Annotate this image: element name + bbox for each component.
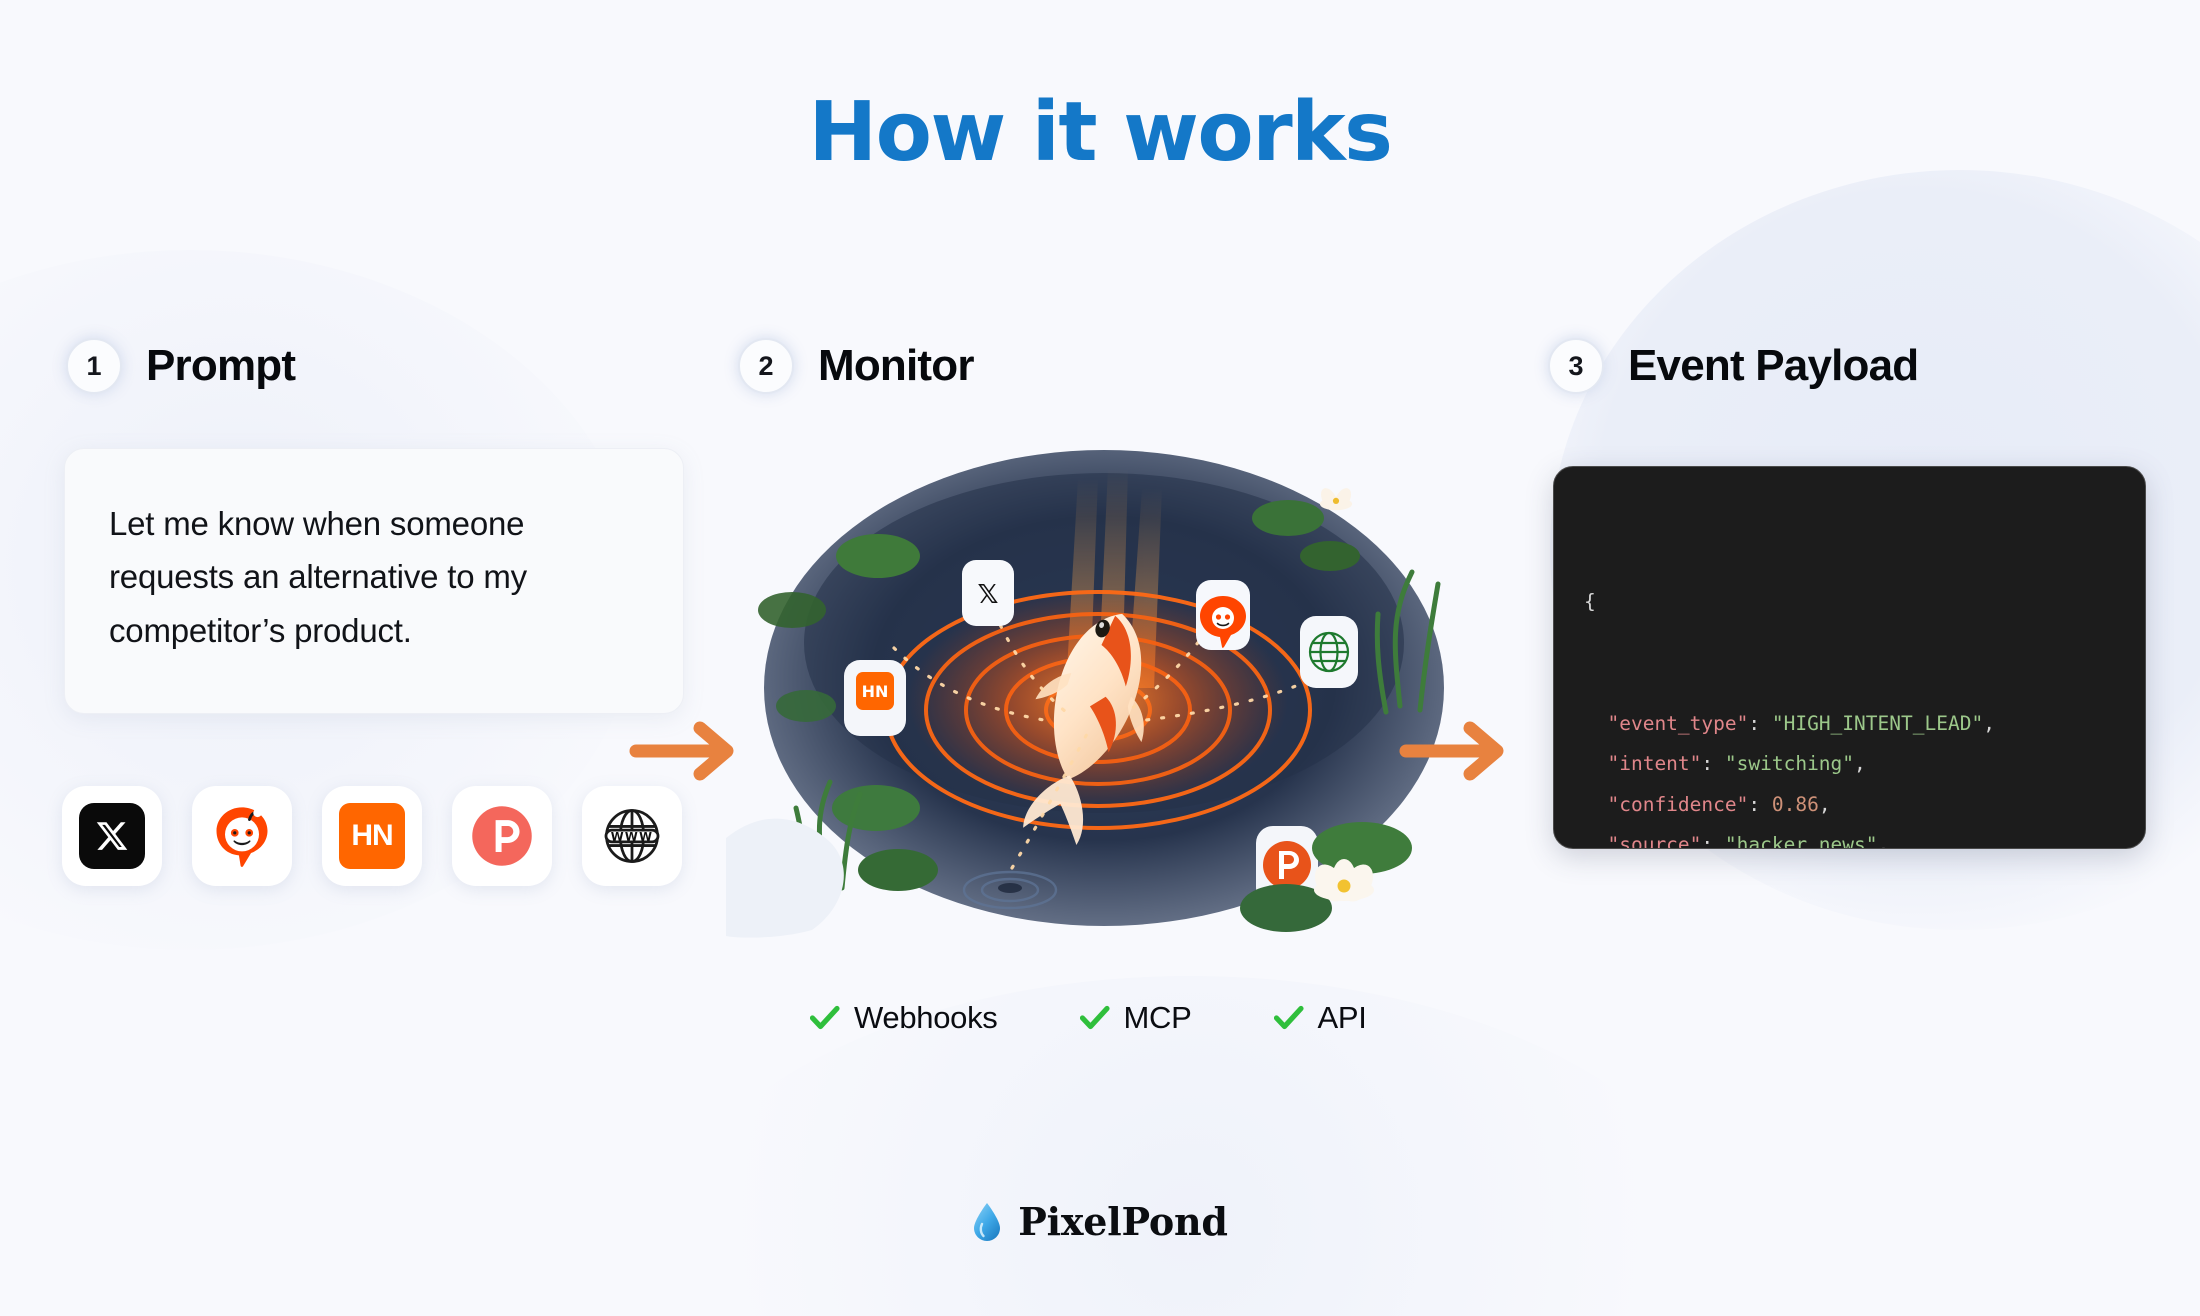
step-number-badge: 1 (66, 338, 122, 394)
payload-value: 0.86 (1772, 793, 1819, 816)
pond-badge-globe (1300, 616, 1358, 688)
pond-badge-hacker-news: HN (844, 660, 906, 736)
step-header-prompt: 1 Prompt (66, 338, 295, 394)
channel-label: API (1318, 1000, 1367, 1036)
check-icon (1274, 1005, 1304, 1031)
payload-key: "intent" (1607, 752, 1701, 775)
arrow-monitor-to-payload (1398, 718, 1510, 784)
hacker-news-icon: HN (339, 803, 405, 869)
brand-footer: PixelPond (0, 1199, 2200, 1244)
x-icon (79, 803, 145, 869)
source-tile-reddit[interactable] (192, 786, 292, 886)
source-tile-x[interactable] (62, 786, 162, 886)
reddit-icon (208, 802, 276, 870)
check-icon (1080, 1005, 1110, 1031)
globe-www-icon: WWW (598, 802, 666, 870)
channel-api: API (1274, 1000, 1367, 1036)
svg-text:WWW: WWW (611, 829, 653, 843)
page-root: How it works 1 Prompt 2 Monitor 3 Event … (0, 0, 2200, 1316)
channel-label: Webhooks (854, 1000, 998, 1036)
source-tile-web[interactable]: WWW (582, 786, 682, 886)
payload-line: "event_type": "HIGH_INTENT_LEAD", (1584, 704, 2115, 745)
step-number-badge: 2 (738, 338, 794, 394)
svg-text:HN: HN (862, 682, 889, 701)
water-drop-icon (972, 1202, 1002, 1242)
pond-illustration: HN 𝕏 (726, 438, 1474, 940)
step-header-monitor: 2 Monitor (738, 338, 974, 394)
prompt-text: Let me know when someone requests an alt… (109, 497, 639, 657)
page-title: How it works (0, 92, 2200, 174)
channel-badge-row: Webhooks MCP API (810, 1000, 1367, 1036)
channel-label: MCP (1124, 1000, 1192, 1036)
prompt-card[interactable]: Let me know when someone requests an alt… (64, 448, 684, 714)
source-tile-product-hunt[interactable] (452, 786, 552, 886)
brand-name: PixelPond (1018, 1199, 1228, 1244)
arrow-right-icon (1398, 718, 1510, 784)
pond-badge-x: 𝕏 (962, 560, 1014, 626)
channel-mcp: MCP (1080, 1000, 1192, 1036)
product-hunt-icon (468, 802, 536, 870)
check-icon (810, 1005, 840, 1031)
payload-key: "event_type" (1607, 712, 1748, 735)
svg-text:𝕏: 𝕏 (978, 580, 999, 610)
payload-key: "source" (1607, 833, 1701, 849)
source-tile-hacker-news[interactable]: HN (322, 786, 422, 886)
step-title: Event Payload (1628, 341, 1918, 391)
source-icon-row: HN WWW (62, 786, 682, 886)
payload-line: "source": "hacker_news", (1584, 825, 2115, 849)
pond-badge-reddit (1196, 580, 1250, 650)
payload-line: "confidence": 0.86, (1584, 785, 2115, 826)
step-title: Monitor (818, 341, 974, 391)
payload-value: "hacker_news" (1725, 833, 1878, 849)
arrow-right-icon (628, 718, 740, 784)
event-payload-code-block[interactable]: { "event_type": "HIGH_INTENT_LEAD", "int… (1553, 466, 2146, 849)
payload-code: { "event_type": "HIGH_INTENT_LEAD", "int… (1584, 501, 2115, 849)
json-open-brace: { (1584, 590, 1596, 613)
step-number-badge: 3 (1548, 338, 1604, 394)
payload-line: "intent": "switching", (1584, 744, 2115, 785)
payload-value: "switching" (1725, 752, 1854, 775)
payload-key: "confidence" (1607, 793, 1748, 816)
channel-webhooks: Webhooks (810, 1000, 998, 1036)
arrow-prompt-to-monitor (628, 718, 740, 784)
payload-value: "HIGH_INTENT_LEAD" (1772, 712, 1983, 735)
step-header-event-payload: 3 Event Payload (1548, 338, 1918, 394)
payload-line-list: "event_type": "HIGH_INTENT_LEAD", "inten… (1584, 704, 2115, 849)
step-title: Prompt (146, 341, 295, 391)
